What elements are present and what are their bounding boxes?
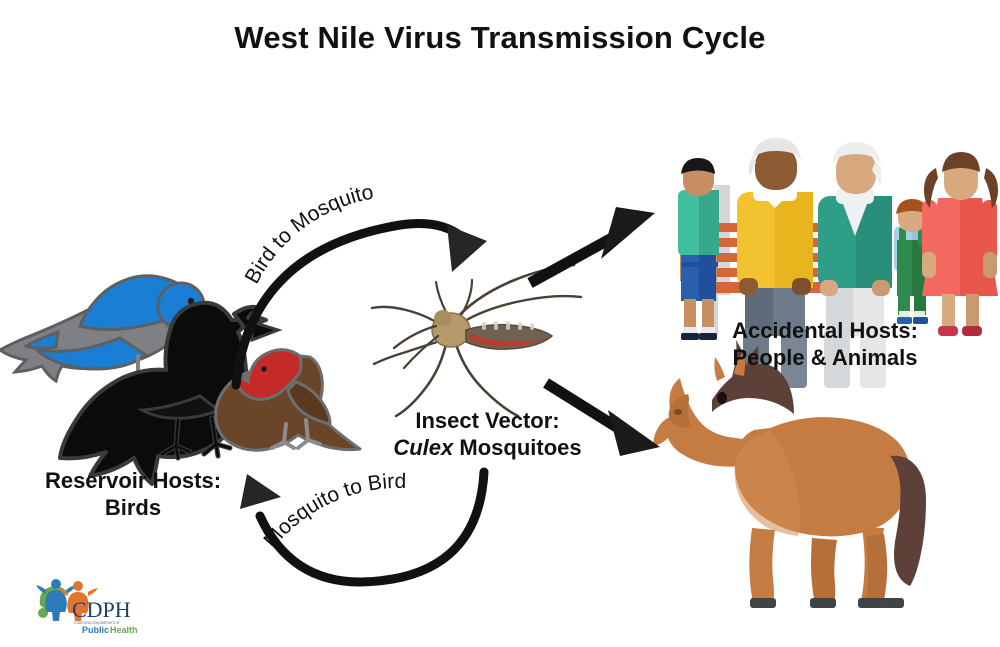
caption-vector-line1: Insect Vector: — [355, 408, 620, 435]
logo-acronym: CDPH — [72, 597, 131, 622]
person-girl-coral-dress — [922, 152, 998, 336]
caption-accidental-line1: Accidental Hosts: — [690, 318, 960, 345]
caption-vector-line2: Culex Mosquitoes — [355, 435, 620, 462]
logo-wordmark-health: Health — [110, 625, 138, 635]
caption-accidental-line2: People & Animals — [690, 345, 960, 372]
caption-reservoir-hosts: Reservoir Hosts: Birds — [8, 468, 258, 522]
cdph-logo: CDPH California Department of Public Hea… — [34, 575, 149, 637]
person-standing-boy — [678, 158, 719, 340]
caption-vector-rest: Mosquitoes — [453, 435, 581, 460]
caption-reservoir-line1: Reservoir Hosts: — [8, 468, 258, 495]
caption-reservoir-line2: Birds — [8, 495, 258, 522]
genus-culex: Culex — [393, 435, 453, 460]
diagram-canvas: West Nile Virus Transmission Cycle — [0, 0, 1000, 647]
caption-insect-vector: Insect Vector: Culex Mosquitoes — [355, 408, 620, 462]
mosquito-illustration — [372, 265, 581, 416]
logo-wordmark-public: Public — [82, 625, 109, 635]
caption-accidental-hosts: Accidental Hosts: People & Animals — [690, 318, 960, 372]
